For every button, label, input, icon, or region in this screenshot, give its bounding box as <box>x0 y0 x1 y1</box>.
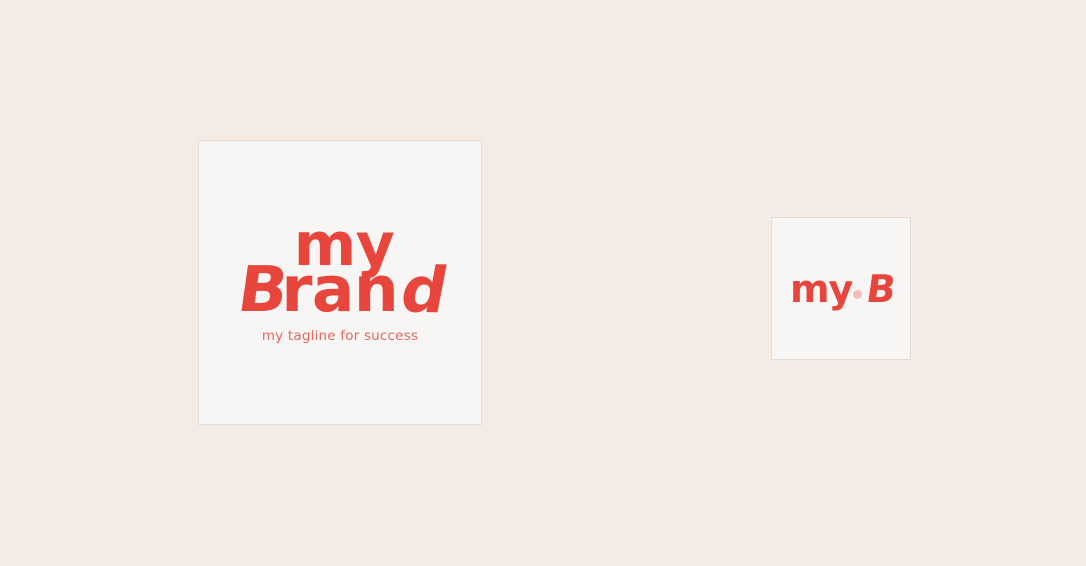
logo-preview-canvas: my Brand my tagline for success my B <box>0 0 1086 566</box>
compact-logo-card[interactable]: my B <box>771 217 911 360</box>
glyph-ran: ran <box>281 253 398 326</box>
dot-separator-icon <box>853 290 862 299</box>
primary-logo-card[interactable]: my Brand my tagline for success <box>198 140 482 425</box>
compact-glyph-my: my <box>790 270 852 308</box>
brand-tagline: my tagline for success <box>262 328 418 344</box>
primary-wordmark: my Brand <box>237 221 444 316</box>
glyph-b: B <box>235 264 291 316</box>
compact-wordmark: my B <box>790 270 892 308</box>
glyph-d: d <box>397 264 451 317</box>
compact-glyph-b: B <box>864 270 897 308</box>
wordmark-line-brand: Brand <box>235 264 442 316</box>
